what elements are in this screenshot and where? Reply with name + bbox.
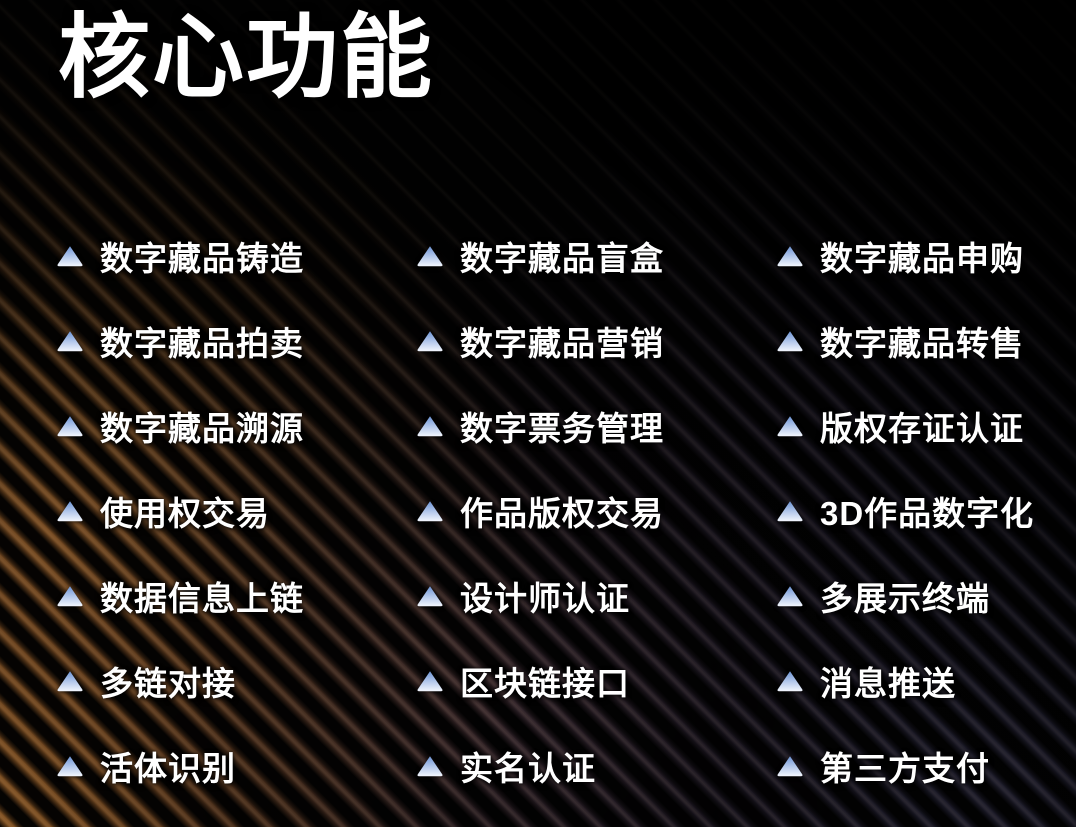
feature-item-label: 消息推送 — [820, 657, 956, 705]
feature-item-label: 数字藏品盲盒 — [460, 232, 664, 280]
feature-item[interactable]: 作品版权交易 — [416, 468, 776, 553]
feature-item[interactable]: 数字藏品申购 — [776, 213, 1056, 298]
triangle-bullet-icon — [56, 754, 84, 778]
triangle-bullet-icon — [776, 329, 804, 353]
feature-item-label: 作品版权交易 — [460, 487, 664, 535]
feature-item[interactable]: 使用权交易 — [56, 468, 416, 553]
feature-item-label: 数字藏品铸造 — [100, 232, 304, 280]
feature-item[interactable]: 数字藏品盲盒 — [416, 213, 776, 298]
triangle-bullet-icon — [776, 754, 804, 778]
triangle-bullet-icon — [56, 414, 84, 438]
feature-item[interactable]: 数字藏品拍卖 — [56, 298, 416, 383]
triangle-bullet-icon — [416, 754, 444, 778]
feature-item[interactable]: 第三方支付 — [776, 723, 1056, 808]
page-title: 核心功能 — [58, 8, 434, 109]
triangle-bullet-icon — [416, 414, 444, 438]
feature-item-label: 实名认证 — [460, 742, 596, 790]
triangle-bullet-icon — [416, 244, 444, 268]
feature-item[interactable]: 数字藏品铸造 — [56, 213, 416, 298]
triangle-bullet-icon — [416, 499, 444, 523]
feature-item[interactable]: 区块链接口 — [416, 638, 776, 723]
slide-content: 核心功能 数字藏品铸造数字藏品盲盒数字藏品申购数字藏品拍卖数字藏品营销数字藏品转… — [0, 0, 1076, 827]
feature-item-label: 数字藏品拍卖 — [100, 317, 304, 365]
triangle-bullet-icon — [56, 244, 84, 268]
feature-item-label: 多链对接 — [100, 657, 236, 705]
triangle-bullet-icon — [776, 584, 804, 608]
feature-item[interactable]: 数字藏品溯源 — [56, 383, 416, 468]
triangle-bullet-icon — [416, 584, 444, 608]
feature-item[interactable]: 活体识别 — [56, 723, 416, 808]
triangle-bullet-icon — [56, 499, 84, 523]
feature-item-label: 活体识别 — [100, 742, 236, 790]
feature-item[interactable]: 数字藏品营销 — [416, 298, 776, 383]
triangle-bullet-icon — [776, 414, 804, 438]
triangle-bullet-icon — [56, 584, 84, 608]
feature-item-label: 数字藏品转售 — [820, 317, 1024, 365]
feature-item[interactable]: 设计师认证 — [416, 553, 776, 638]
triangle-bullet-icon — [776, 499, 804, 523]
feature-item[interactable]: 数据信息上链 — [56, 553, 416, 638]
feature-item[interactable]: 版权存证认证 — [776, 383, 1056, 468]
feature-item-label: 第三方支付 — [820, 742, 990, 790]
feature-item[interactable]: 多链对接 — [56, 638, 416, 723]
feature-item-label: 3D作品数字化 — [820, 487, 1034, 535]
triangle-bullet-icon — [56, 329, 84, 353]
triangle-bullet-icon — [56, 669, 84, 693]
feature-item-label: 设计师认证 — [460, 572, 630, 620]
triangle-bullet-icon — [416, 669, 444, 693]
feature-item[interactable]: 实名认证 — [416, 723, 776, 808]
feature-item-label: 数据信息上链 — [100, 572, 304, 620]
feature-item[interactable]: 数字藏品转售 — [776, 298, 1056, 383]
feature-item[interactable]: 数字票务管理 — [416, 383, 776, 468]
feature-item-label: 数字藏品溯源 — [100, 402, 304, 450]
triangle-bullet-icon — [776, 669, 804, 693]
feature-item-label: 数字藏品申购 — [820, 232, 1024, 280]
feature-item[interactable]: 3D作品数字化 — [776, 468, 1056, 553]
feature-item-label: 版权存证认证 — [820, 402, 1024, 450]
feature-list-grid: 数字藏品铸造数字藏品盲盒数字藏品申购数字藏品拍卖数字藏品营销数字藏品转售数字藏品… — [56, 213, 1056, 808]
feature-item-label: 数字票务管理 — [460, 402, 664, 450]
feature-item-label: 多展示终端 — [820, 572, 990, 620]
triangle-bullet-icon — [416, 329, 444, 353]
slide-root: 核心功能 数字藏品铸造数字藏品盲盒数字藏品申购数字藏品拍卖数字藏品营销数字藏品转… — [0, 0, 1076, 827]
triangle-bullet-icon — [776, 244, 804, 268]
feature-item[interactable]: 多展示终端 — [776, 553, 1056, 638]
feature-item-label: 区块链接口 — [460, 657, 630, 705]
feature-item[interactable]: 消息推送 — [776, 638, 1056, 723]
feature-item-label: 数字藏品营销 — [460, 317, 664, 365]
feature-item-label: 使用权交易 — [100, 487, 270, 535]
